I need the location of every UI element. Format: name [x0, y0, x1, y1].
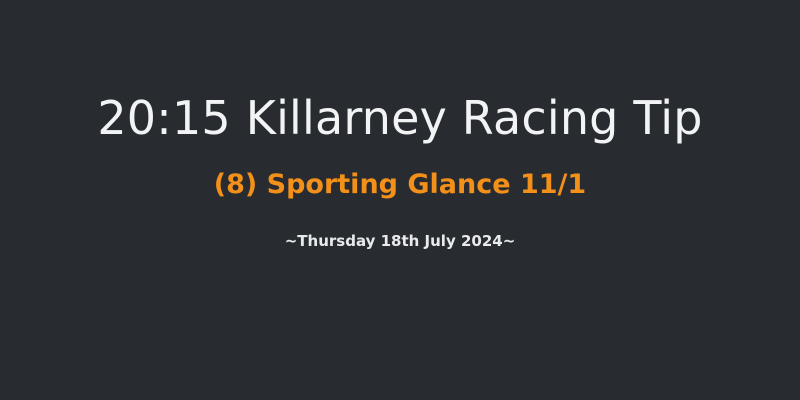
selection-horse-name: Sporting Glance: [267, 169, 511, 200]
selection-space-2: [511, 169, 520, 200]
selection-number: (8): [214, 169, 257, 200]
race-date: ~Thursday 18th July 2024~: [285, 232, 516, 250]
selection-odds: 11/1: [520, 169, 586, 200]
selection-space-1: [257, 169, 266, 200]
selection-line: (8) Sporting Glance 11/1: [214, 169, 586, 200]
racing-tip-card: 20:15 Killarney Racing Tip (8) Sporting …: [0, 0, 800, 400]
page-title: 20:15 Killarney Racing Tip: [97, 93, 702, 145]
